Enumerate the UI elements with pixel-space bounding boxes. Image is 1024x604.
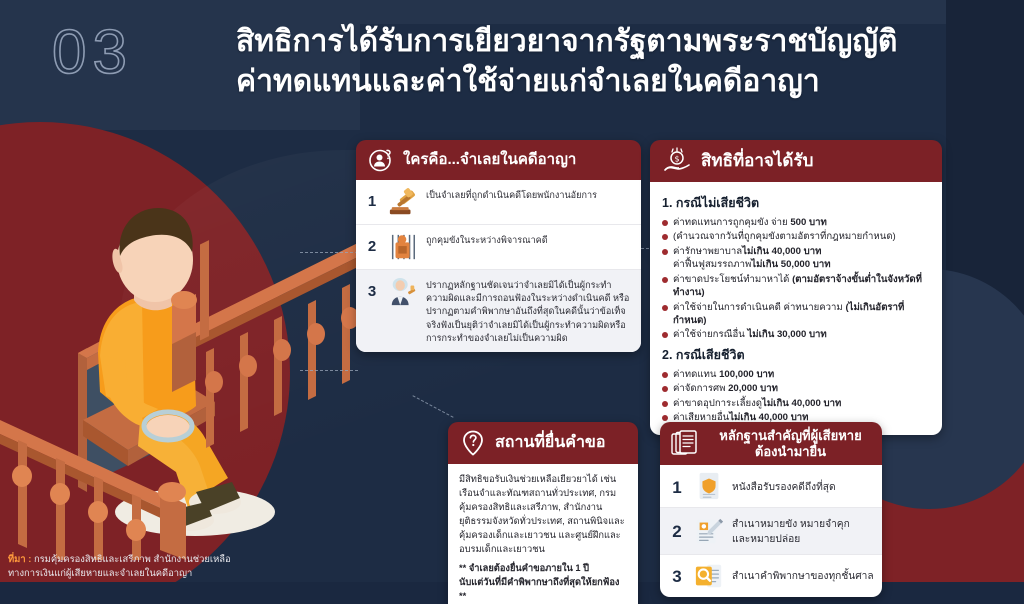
infographic-canvas: 03 สิทธิการได้รับการเยียวยาจากรัฐตามพระร…: [0, 0, 1024, 604]
document-magnifier-icon: [694, 561, 724, 591]
source-line1: ที่มา : กรมคุ้มครองสิทธิและเสรีภาพ สำนัก…: [8, 552, 428, 566]
item-emphasis: 20,000 บาท: [728, 383, 778, 394]
bullet-dot: [662, 332, 668, 338]
list-item[interactable]: 2 สำเนาหมายขัง หมายจำคุก และหมายปล่อย: [660, 507, 882, 554]
row-number: 2: [668, 519, 686, 542]
bullet-dot: [662, 234, 668, 240]
card-who-is-defendant: ใครคือ...จำเลยในคดีอาญา 1 เป็นจำเลยที่ถู…: [356, 140, 641, 352]
section-number: 03: [52, 22, 133, 84]
list-item[interactable]: 3 สำเนาคำพิพากษาของทุกชั้นศาล: [660, 554, 882, 597]
hand-coin-icon: $: [662, 146, 692, 176]
card-place-body: มีสิทธิขอรับเงินช่วยเหลือเยียวยาได้ เช่น…: [448, 464, 638, 604]
bullet-dot: [662, 277, 668, 283]
row-number: 1: [364, 187, 380, 210]
svg-text:$: $: [674, 154, 679, 163]
row-text: เป็นจำเลยที่ถูกดำเนินคดีโดยพนักงานอัยการ: [426, 187, 597, 202]
row-number: 1: [668, 475, 686, 498]
row-number: 2: [364, 232, 380, 255]
item-text: (คำนวณจากวันที่ถูกคุมขังตามอัตราที่กฎหมา…: [673, 230, 896, 243]
list-item: ค่าทดแทน 100,000 บาท: [662, 368, 932, 381]
bullet-dot: [662, 415, 668, 421]
row-text: สำเนาหมายขัง หมายจำคุก และหมายปล่อย: [732, 514, 850, 548]
section-title: 2. กรณีเสียชีวิต: [662, 345, 932, 365]
prisoner-sitting-illustration: [0, 120, 380, 560]
row-text: หนังสือรับรองคดีถึงที่สุด: [732, 477, 836, 496]
item-emphasis: ไม่เกิน 40,000 บาท: [762, 398, 841, 409]
row-text: ถูกคุมขังในระหว่างพิจารณาคดี: [426, 232, 548, 247]
list-item: ค่ารักษาพยาบาลไม่เกิน 40,000 บาทค่าฟื้นฟ…: [662, 245, 932, 272]
prison-bars-icon: [388, 232, 418, 262]
section-title: 1. กรณีไม่เสียชีวิต: [662, 193, 932, 213]
card-required-documents: หลักฐานสำคัญที่ผู้เสียหาย ต้องนำมายื่น 1…: [660, 422, 882, 597]
bullet-dot: [662, 305, 668, 311]
card-rights-body: 1. กรณีไม่เสียชีวิต ค่าทดแทนการถูกคุมขัง…: [650, 182, 942, 435]
item-text: ค่าทดแทน: [673, 369, 719, 380]
source-label: ที่มา :: [8, 553, 31, 564]
item-text: ค่าจัดการศพ: [673, 383, 728, 394]
card-place-title: สถานที่ยื่นคำขอ: [495, 433, 605, 452]
item-text: ค่าขาดประโยชน์ทำมาหาได้: [673, 274, 792, 285]
bullet-dot: [662, 220, 668, 226]
bullet-dot: [662, 372, 668, 378]
item-emphasis: ไม่เกิน 50,000 บาท: [751, 259, 830, 270]
card-who-body: 1 เป็นจำเลยที่ถูกดำเนินคดีโดยพนักงานอัยก…: [356, 180, 641, 352]
item-text: ค่าขาดอุปการะเลี้ยงดู: [673, 398, 762, 409]
list-item[interactable]: 1 หนังสือรับรองคดีถึงที่สุด: [660, 465, 882, 507]
row-text: สำเนาคำพิพากษาของทุกชั้นศาล: [732, 566, 874, 585]
bullet-dot: [662, 386, 668, 392]
card-place-to-file: สถานที่ยื่นคำขอ มีสิทธิขอรับเงินช่วยเหลื…: [448, 422, 638, 604]
card-who-header: ใครคือ...จำเลยในคดีอาญา: [356, 140, 641, 180]
row-text-content: สำเนาหมายขัง หมายจำคุก และหมายปล่อย: [732, 519, 850, 545]
card-docs-title-line1: หลักฐานสำคัญที่ผู้เสียหาย: [709, 428, 872, 444]
card-rights-title: สิทธิที่อาจได้รับ: [701, 151, 813, 171]
page-title-line2: ค่าทดแทนและค่าใช้จ่ายแก่จำเลยในคดีอาญา: [236, 62, 1016, 102]
place-note-line2: นับแต่วันที่มีคำพิพากษาถึงที่สุดให้ยกฟ้อ…: [459, 576, 627, 604]
list-item: ค่าใช้จ่ายกรณีอื่น ไม่เกิน 30,000 บาท: [662, 328, 932, 341]
bullet-dot: [662, 249, 668, 255]
connector-dash-1: [300, 252, 358, 253]
list-item[interactable]: 3 ปรากฏหลักฐานชัดเจนว่าจำเลยมิได้เป็นผู้…: [356, 269, 641, 352]
row-text: ปรากฏหลักฐานชัดเจนว่าจำเลยมิได้เป็นผู้กร…: [426, 277, 631, 345]
source-text1: กรมคุ้มครองสิทธิและเสรีภาพ สำนักงานช่วยเ…: [31, 553, 230, 564]
card-who-title: ใครคือ...จำเลยในคดีอาญา: [403, 151, 576, 169]
item-emphasis: ไม่เกิน 30,000 บาท: [747, 329, 826, 340]
list-item: (คำนวณจากวันที่ถูกคุมขังตามอัตราที่กฎหมา…: [662, 230, 932, 243]
item-emphasis: ไม่เกิน 40,000 บาท: [742, 246, 821, 257]
item-text: ค่าฟื้นฟูสมรรถภาพ: [673, 259, 751, 270]
place-note-line1: ** จำเลยต้องยื่นคำขอภายใน 1 ปี: [459, 562, 627, 576]
list-item[interactable]: 2 ถูกคุมขังในระหว่างพิจารณาคดี: [356, 224, 641, 269]
certificate-shield-icon: [694, 471, 724, 501]
item-text: ค่าใช้จ่ายในการดำเนินคดี ค่าทนายความ: [673, 302, 845, 313]
document-pen-icon: [694, 516, 724, 546]
card-place-header: สถานที่ยื่นคำขอ: [448, 422, 638, 464]
list-item: ค่าขาดอุปการะเลี้ยงดูไม่เกิน 40,000 บาท: [662, 397, 932, 410]
place-description: มีสิทธิขอรับเงินช่วยเหลือเยียวยาได้ เช่น…: [459, 473, 627, 557]
list-item: ค่าใช้จ่ายในการดำเนินคดี ค่าทนายความ (ไม…: [662, 301, 932, 328]
list-item: ค่าทดแทนการถูกคุมขัง จ่าย 500 บาท: [662, 216, 932, 229]
item-text: ค่าทดแทนการถูกคุมขัง จ่าย: [673, 217, 790, 228]
judge-icon: [388, 277, 418, 307]
source-credit: ที่มา : กรมคุ้มครองสิทธิและเสรีภาพ สำนัก…: [8, 552, 428, 580]
row-number: 3: [364, 277, 380, 300]
connector-dash-2: [300, 370, 358, 371]
card-docs-header: หลักฐานสำคัญที่ผู้เสียหาย ต้องนำมายื่น: [660, 422, 882, 465]
card-docs-title-line2: ต้องนำมายื่น: [709, 444, 872, 460]
source-line2: ทางการเงินแก่ผู้เสียหายและจำเลยในคดีอาญา: [8, 566, 428, 580]
page-title: สิทธิการได้รับการเยียวยาจากรัฐตามพระราชบ…: [236, 22, 1016, 101]
row-number: 3: [668, 564, 686, 587]
bullet-dot: [662, 401, 668, 407]
item-text: ค่าใช้จ่ายกรณีอื่น: [673, 329, 747, 340]
person-question-icon: [368, 147, 394, 173]
card-docs-body: 1 หนังสือรับรองคดีถึงที่สุด 2: [660, 465, 882, 597]
card-docs-title: หลักฐานสำคัญที่ผู้เสียหาย ต้องนำมายื่น: [709, 428, 872, 459]
item-emphasis: 100,000 บาท: [719, 369, 774, 380]
item-emphasis: 500 บาท: [790, 217, 826, 228]
gavel-icon: [388, 187, 418, 217]
list-item[interactable]: 1 เป็นจำเลยที่ถูกดำเนินคดีโดยพนักงานอัยก…: [356, 180, 641, 224]
card-possible-rights: $ สิทธิที่อาจได้รับ 1. กรณีไม่เสียชีวิต …: [650, 140, 942, 435]
location-question-icon: [460, 429, 486, 457]
documents-stack-icon: [670, 429, 700, 459]
list-item: ค่าขาดประโยชน์ทำมาหาได้ (ตามอัตราจ้างขั้…: [662, 273, 932, 300]
item-text: ค่ารักษาพยาบาล: [673, 246, 742, 257]
list-item: ค่าจัดการศพ 20,000 บาท: [662, 382, 932, 395]
page-title-line1: สิทธิการได้รับการเยียวยาจากรัฐตามพระราชบ…: [236, 22, 1016, 62]
card-rights-header: $ สิทธิที่อาจได้รับ: [650, 140, 942, 182]
